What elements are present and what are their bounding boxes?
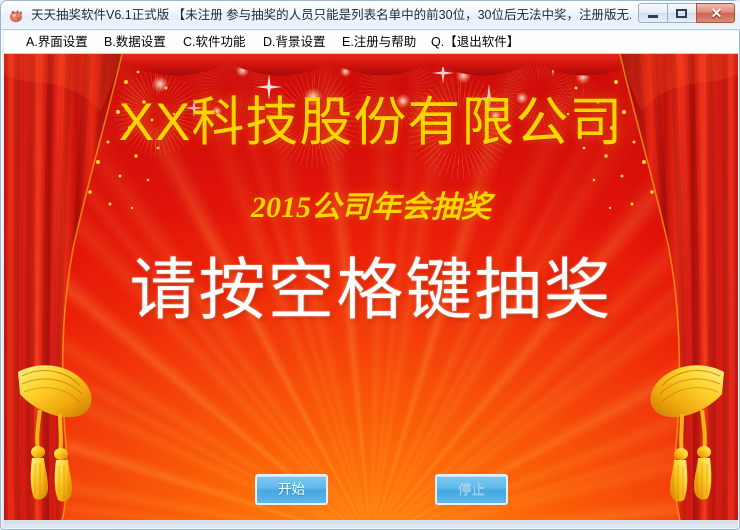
close-button[interactable]: ✕ <box>696 3 735 23</box>
menu-item-interface-settings[interactable]: A.界面设置 <box>24 31 90 54</box>
maximize-icon <box>676 9 687 18</box>
menu-item-background-settings[interactable]: D.背景设置 <box>261 31 328 54</box>
window-title: 天天抽奖软件V6.1正式版 【未注册 参与抽奖的人员只能是列表名单中的前30位，… <box>31 1 631 30</box>
maximize-button[interactable] <box>667 3 696 23</box>
close-icon: ✕ <box>697 4 736 22</box>
minimize-icon <box>648 15 658 18</box>
stop-button[interactable]: 停止 <box>435 474 508 505</box>
lottery-stage: XX科技股份有限公司 2015公司年会抽奖 请按空格键抽奖 开始 停止 <box>4 54 738 520</box>
window-bottom-edge <box>4 520 738 524</box>
menu-item-software-functions[interactable]: C.软件功能 <box>181 31 248 54</box>
gold-glitter-right-icon <box>530 58 660 238</box>
application-window: 天天抽奖软件V6.1正式版 【未注册 参与抽奖的人员只能是列表名单中的前30位，… <box>0 0 740 530</box>
curtain-valance <box>4 54 738 80</box>
start-button[interactable]: 开始 <box>255 474 328 505</box>
menu-item-data-settings[interactable]: B.数据设置 <box>102 31 168 54</box>
menu-item-exit-software[interactable]: Q.【退出软件】 <box>429 31 521 54</box>
menu-item-register-help[interactable]: E.注册与帮助 <box>340 31 418 54</box>
title-bar[interactable]: 天天抽奖软件V6.1正式版 【未注册 参与抽奖的人员只能是列表名单中的前30位，… <box>1 1 740 30</box>
lottery-app-icon <box>8 7 25 24</box>
menu-bar: A.界面设置 B.数据设置 C.软件功能 D.背景设置 E.注册与帮助 Q.【退… <box>4 31 738 54</box>
gold-glitter-left-icon <box>82 58 212 238</box>
minimize-button[interactable] <box>638 3 667 23</box>
